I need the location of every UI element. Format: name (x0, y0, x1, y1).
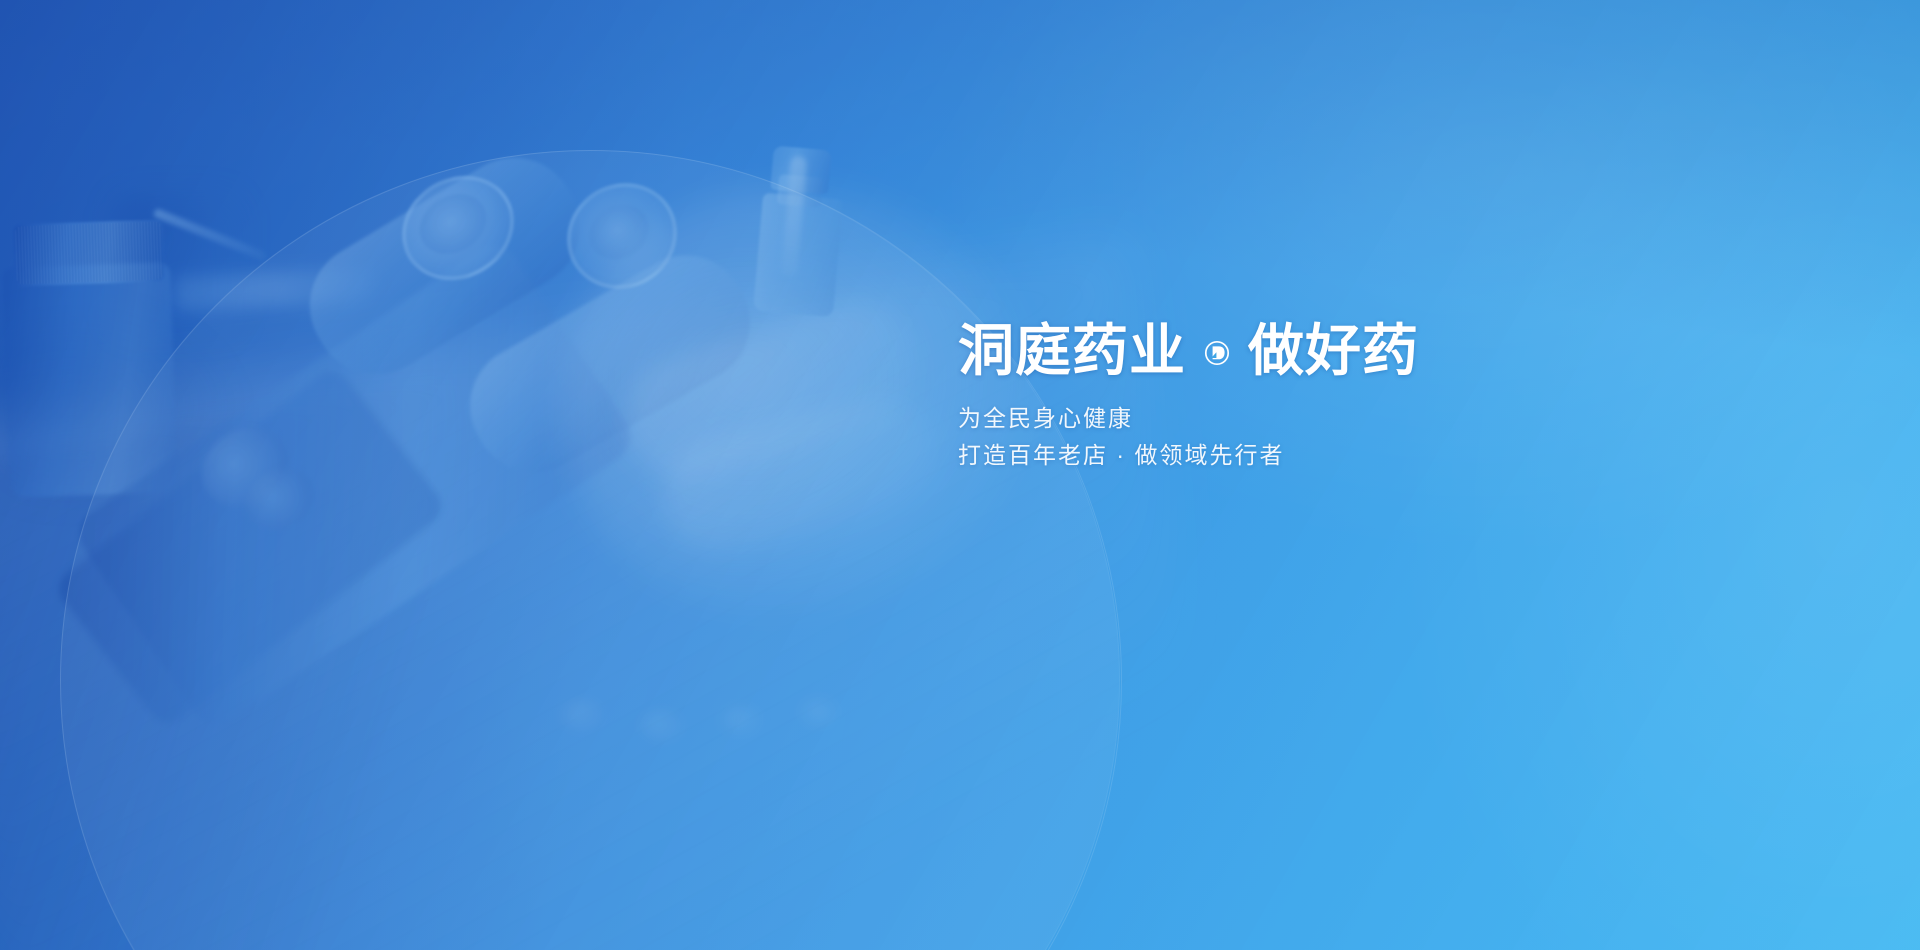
pill-bottle-cap (13, 219, 165, 286)
hero-title-slogan: 做好药 (1248, 320, 1419, 382)
circular-arc-overlay (60, 150, 1120, 950)
blurred-tablet (560, 700, 606, 730)
background-gradient (0, 0, 1920, 950)
hero-copy-block: 洞庭药业 做好药 为全民身心健康 打造百年老店 · 做领域先行者 (958, 320, 1718, 474)
blue-tint-wash (0, 0, 1920, 950)
pill-bottle-body (2, 262, 178, 498)
hero-subtitle-line-1: 为全民身心健康 (958, 400, 1718, 437)
lower-left-shadow-wedge (0, 380, 544, 950)
circular-arc-overlay-edge (60, 150, 1122, 950)
blurred-background-bar (174, 267, 376, 311)
blurred-tablet (720, 706, 762, 734)
blue-tint-wash-2 (0, 0, 1920, 950)
background-cloth-highlight (0, 0, 1920, 950)
hero-subtitle-line-2: 打造百年老店 · 做领域先行者 (958, 437, 1718, 474)
background-dark-wedge (0, 0, 1920, 950)
microscope-objective-lens (579, 194, 659, 270)
microscope-objective-tube (448, 234, 772, 495)
blurred-cylinder (118, 200, 236, 328)
glass-vial-highlight (781, 156, 807, 277)
microscope-focus-knob-large (188, 412, 303, 521)
gloved-finger-lower (651, 388, 949, 562)
microscope-eyepiece-rim (383, 155, 534, 300)
gloved-finger-upper (609, 287, 931, 494)
microscope-arm (70, 236, 641, 734)
microscope-eyepiece-lens (409, 182, 498, 266)
pill-bottle-cap-ribs (15, 221, 163, 284)
dongting-circle-logo-icon (1204, 340, 1230, 366)
hero-banner: 洞庭药业 做好药 为全民身心健康 打造百年老店 · 做领域先行者 (0, 0, 1920, 950)
microscope-objective-rim (548, 163, 697, 309)
blurred-tablet (800, 700, 840, 726)
needle-probe (153, 208, 268, 261)
microscope-arm-lower (51, 364, 449, 731)
hero-title: 洞庭药业 做好药 (958, 320, 1718, 382)
microscope-focus-knob-small (235, 456, 325, 541)
glass-vial-neck (777, 174, 823, 208)
pill-bottle-shadow (0, 300, 240, 510)
hero-subtitle: 为全民身心健康 打造百年老店 · 做领域先行者 (958, 400, 1718, 475)
blurred-tablet (640, 712, 684, 740)
glass-vial-body (753, 193, 843, 318)
microscope-eyepiece-tube (287, 135, 604, 398)
hero-title-brand: 洞庭药业 (958, 320, 1186, 382)
glass-vial-cap (770, 146, 832, 195)
